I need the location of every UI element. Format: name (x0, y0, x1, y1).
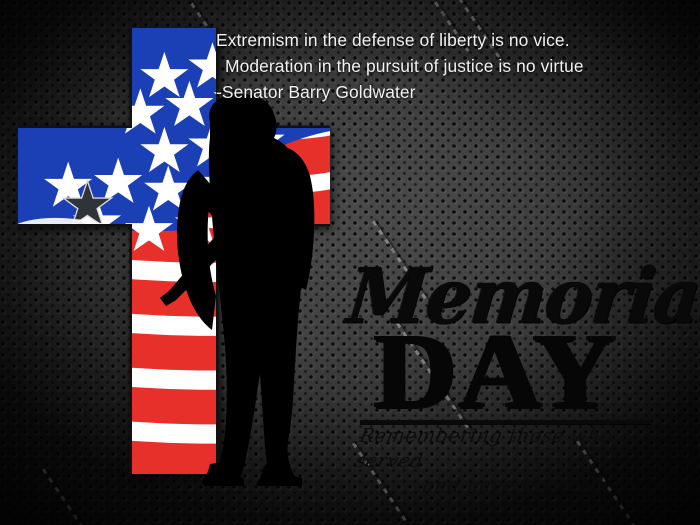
memorial-tagline-line-1: Remembering those who served (349, 424, 658, 474)
memorial-day-poster: Extremism in the defense of liberty is n… (0, 0, 700, 525)
quote-block: Extremism in the defense of liberty is n… (216, 27, 700, 105)
quote-line-1: Extremism in the defense of liberty is n… (216, 27, 700, 53)
memorial-day-lockup: Memorial DAY Remembering those who serve… (352, 258, 688, 483)
soldier-silhouette (136, 86, 376, 486)
quote-line-2: Moderation in the pursuit of justice is … (216, 53, 700, 79)
memorial-day-word: DAY (374, 318, 618, 426)
memorial-tagline-line-2: and gave their all. (345, 474, 649, 499)
memorial-tagline: Remembering those who served and gave th… (345, 424, 658, 499)
quote-attribution: -Senator Barry Goldwater (216, 79, 700, 105)
